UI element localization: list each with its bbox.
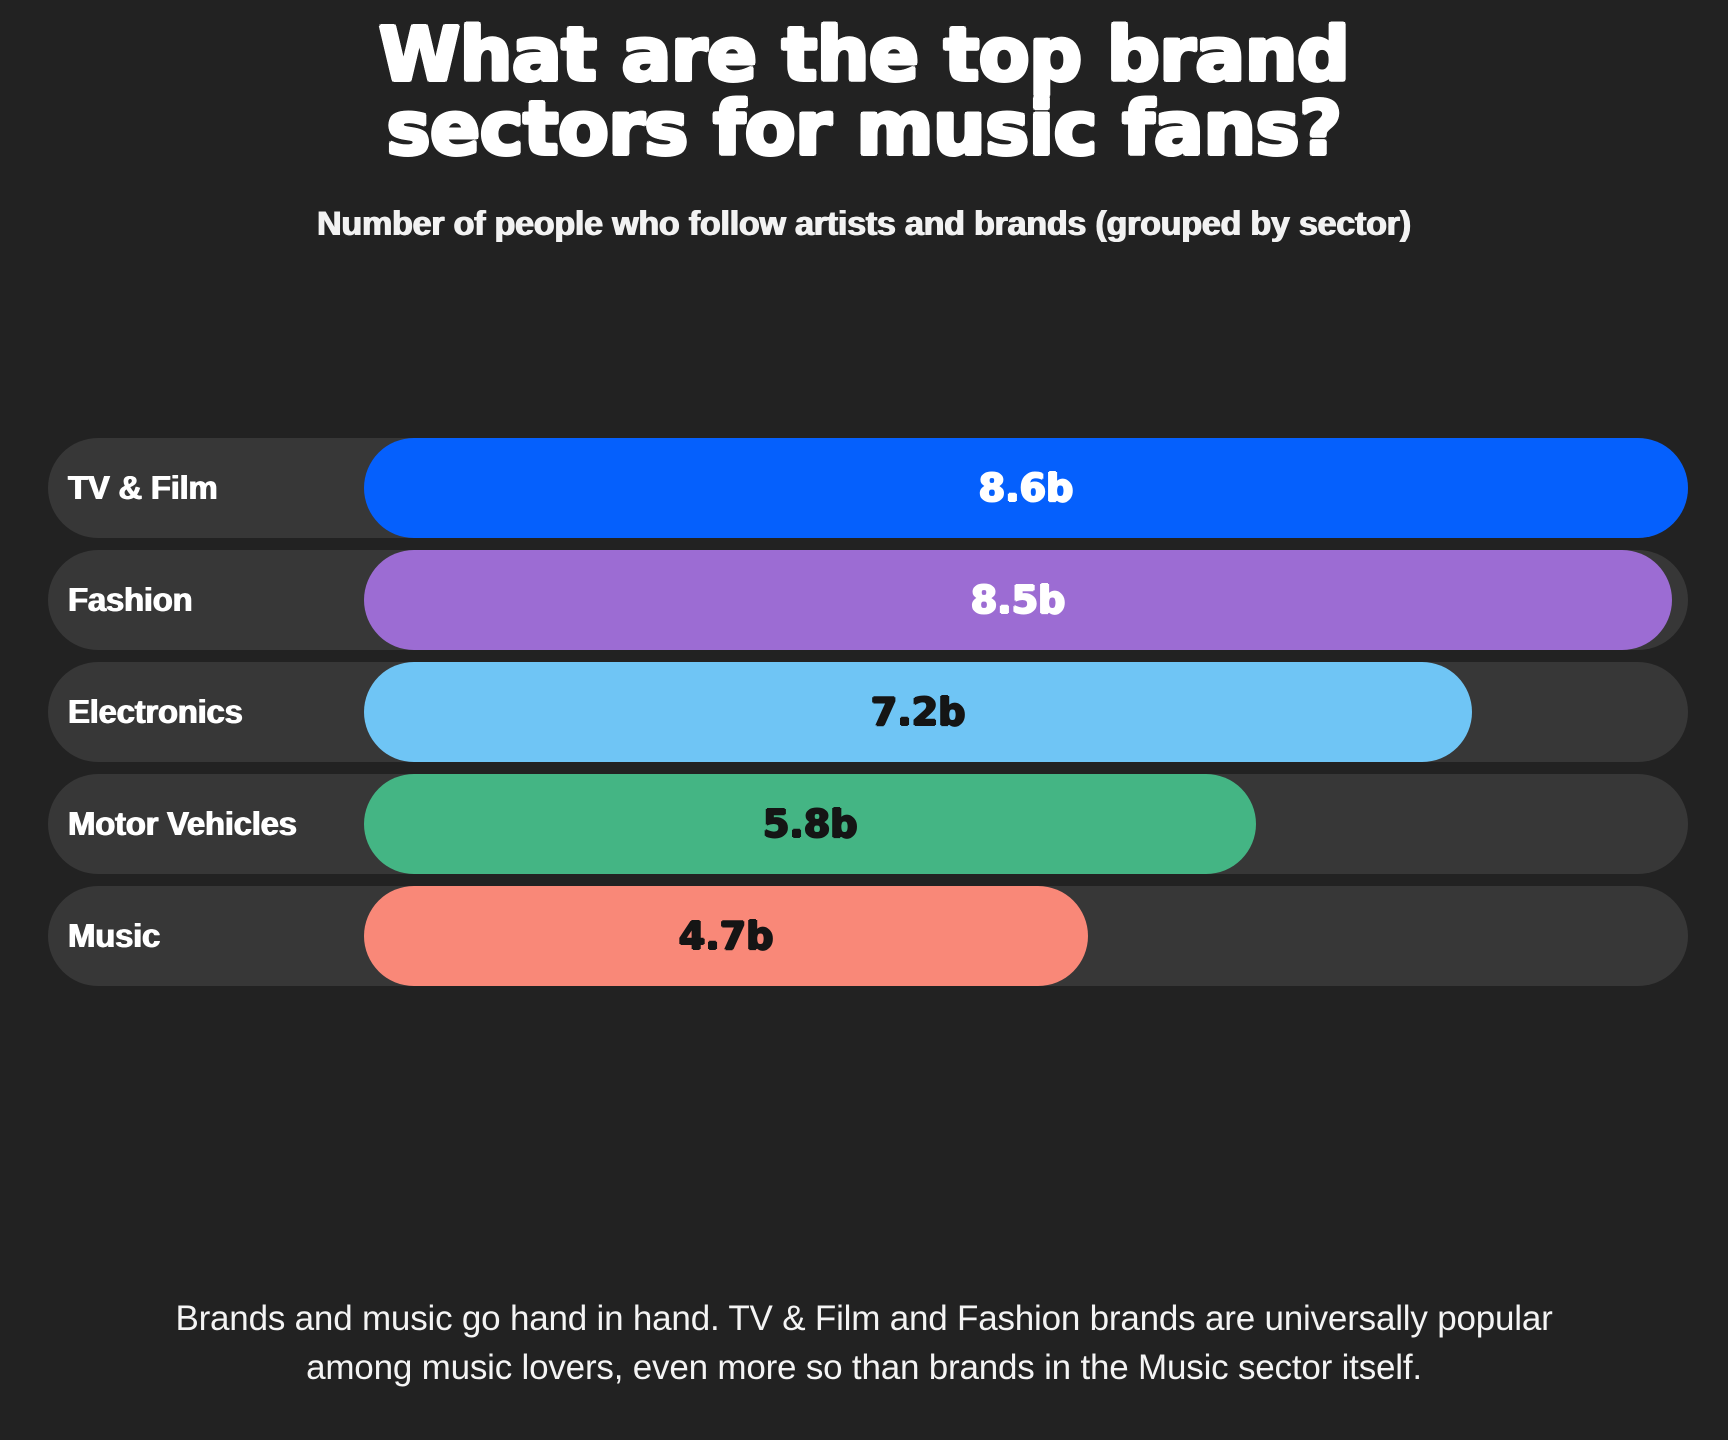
- bar-chart: TV & Film 8.6b Fashion 8.5b Electronics …: [48, 438, 1688, 986]
- bar-category-label: Fashion: [68, 550, 192, 650]
- bar-row: Electronics 7.2b: [48, 662, 1688, 762]
- chart-header: What are the top brand sectors for music…: [0, 0, 1728, 243]
- bar-row: Motor Vehicles 5.8b: [48, 774, 1688, 874]
- bar-value-label: 5.8b: [763, 802, 858, 846]
- chart-page: What are the top brand sectors for music…: [0, 0, 1728, 1440]
- bar-fill-motor-vehicles[interactable]: 5.8b: [364, 774, 1256, 874]
- bar-value-label: 8.6b: [979, 466, 1074, 510]
- chart-footer: Brands and music go hand in hand. TV & F…: [0, 1295, 1728, 1392]
- footer-note: Brands and music go hand in hand. TV & F…: [144, 1295, 1584, 1392]
- bar-category-label: TV & Film: [68, 438, 217, 538]
- bar-category-label: Electronics: [68, 662, 243, 762]
- bar-row: TV & Film 8.6b: [48, 438, 1688, 538]
- bar-fill-music[interactable]: 4.7b: [364, 886, 1088, 986]
- bar-row: Fashion 8.5b: [48, 550, 1688, 650]
- bar-category-label: Music: [68, 886, 160, 986]
- bar-fill-tv-film[interactable]: 8.6b: [364, 438, 1688, 538]
- bar-value-label: 4.7b: [679, 914, 774, 958]
- bar-fill-fashion[interactable]: 8.5b: [364, 550, 1672, 650]
- page-title: What are the top brand sectors for music…: [214, 18, 1514, 166]
- bar-category-label: Motor Vehicles: [68, 774, 297, 874]
- bar-value-label: 8.5b: [971, 578, 1066, 622]
- chart-subtitle: Number of people who follow artists and …: [114, 206, 1614, 243]
- bar-fill-electronics[interactable]: 7.2b: [364, 662, 1472, 762]
- bar-value-label: 7.2b: [871, 690, 966, 734]
- bar-row: Music 4.7b: [48, 886, 1688, 986]
